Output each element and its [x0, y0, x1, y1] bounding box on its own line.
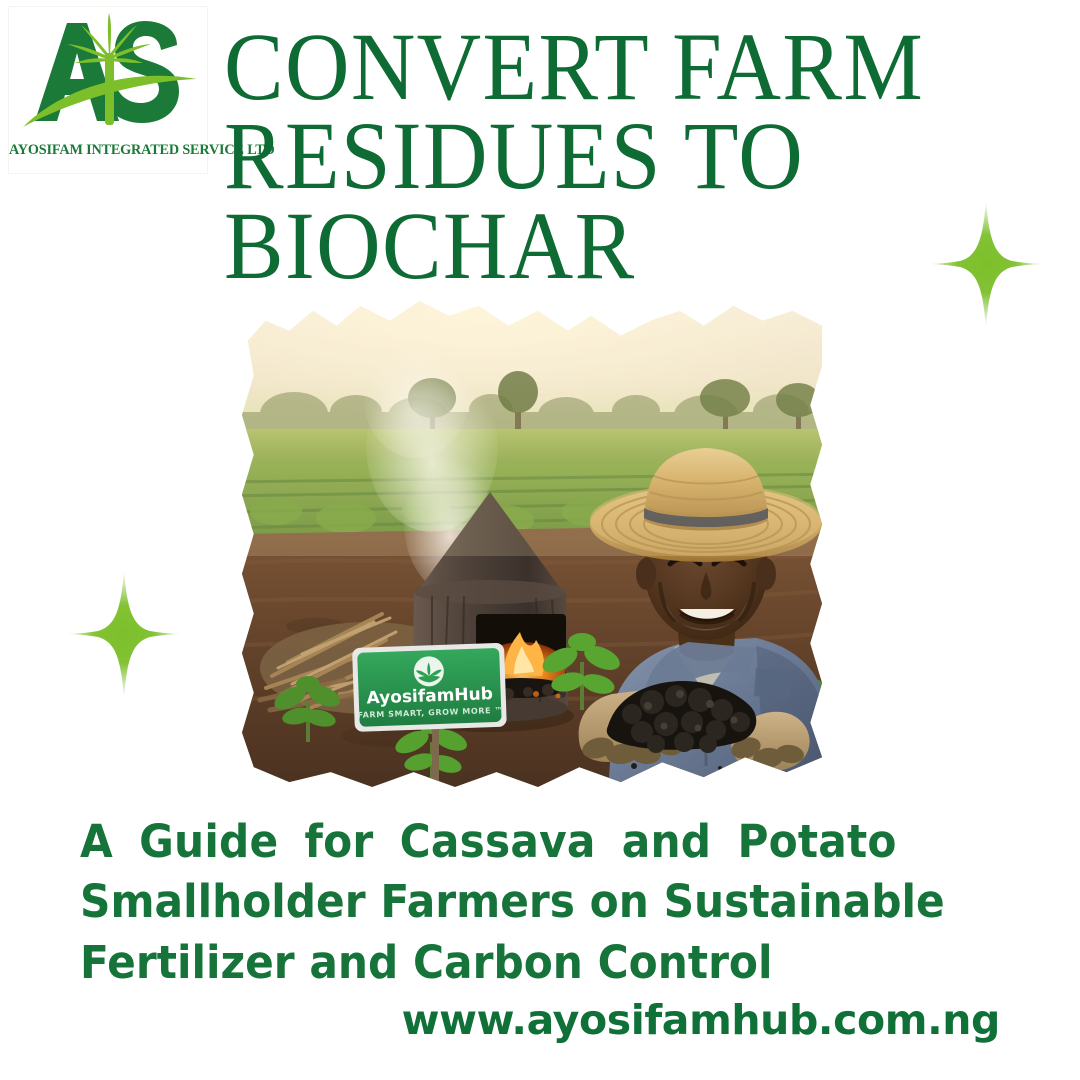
- subtitle-line-2: Smallholder Farmers on Sustainable: [80, 872, 967, 932]
- sparkle-icon-right: [920, 198, 1052, 330]
- poster-canvas: AYOSIFAM INTEGRATED SERVICE LTD CONVERT …: [0, 0, 1080, 1080]
- hero-photo-torn-frame: AyosifamHub FARM SMART, GROW MORE ™: [236, 296, 828, 792]
- hero-photo: AyosifamHub FARM SMART, GROW MORE ™: [236, 296, 828, 792]
- website-url[interactable]: www.ayosifamhub.com.ng: [80, 996, 1000, 1044]
- sparkle-icon-left: [58, 568, 190, 700]
- ais-cassava-leaf-logo-icon: [9, 9, 209, 137]
- subtitle-line-3: Fertilizer and Carbon Control: [80, 933, 967, 993]
- headline-line-1: CONVERT FARM: [224, 22, 987, 111]
- subtitle-line-1: A Guide for Cassava and Potato: [80, 812, 967, 872]
- hero-photo-illustration: AyosifamHub FARM SMART, GROW MORE ™: [236, 296, 828, 792]
- subtitle: A Guide for Cassava and Potato Smallhold…: [80, 812, 1024, 993]
- company-logo: AYOSIFAM INTEGRATED SERVICE LTD: [8, 6, 208, 174]
- logo-company-name: AYOSIFAM INTEGRATED SERVICE LTD: [9, 143, 209, 157]
- headline-line-2: RESIDUES TO: [224, 111, 987, 200]
- headline-line-3: BIOCHAR: [224, 201, 987, 290]
